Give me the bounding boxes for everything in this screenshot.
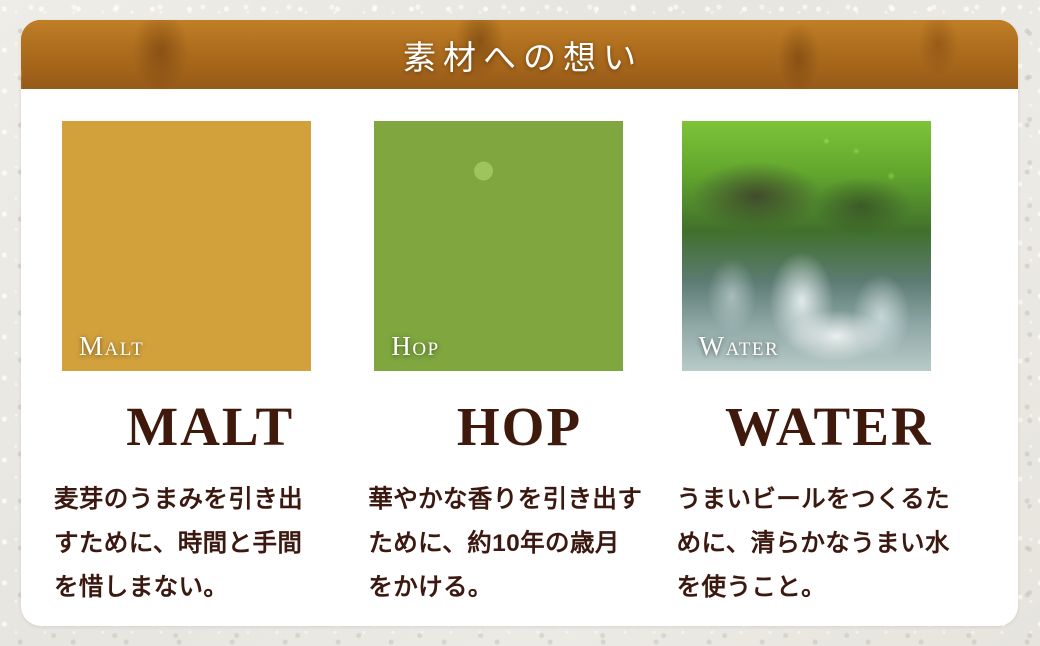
water-photo-caption: Water [699,331,779,362]
water-heading: WATER [681,399,977,455]
hop-description: 華やかな香りを引き出す ために、約10年の歳月 をかける。 [368,478,667,610]
hop-photo: Hop [374,121,623,371]
ingredient-columns: Malt MALT 麦芽のうまみを引き出 すために、時間と手間 を惜しまない。 … [21,89,1018,610]
ingredients-card: 素材への想い Malt MALT 麦芽のうまみを引き出 すために、時間と手間 を… [21,20,1018,626]
malt-photo-caption: Malt [79,331,144,362]
water-photo: Water [682,121,931,371]
malt-photo: Malt [62,121,311,371]
water-description: うまいビールをつくるた めに、清らかなうまい水 を使うこと。 [677,478,977,610]
page-title: 素材への想い [21,20,1018,89]
hop-photo-caption: Hop [391,331,439,362]
ingredient-column-hop: Hop HOP 華やかな香りを引き出す ために、約10年の歳月 をかける。 [371,121,667,610]
hop-heading: HOP [371,399,667,455]
malt-heading: MALT [62,399,358,455]
section-banner: 素材への想い [21,20,1018,89]
ingredient-column-malt: Malt MALT 麦芽のうまみを引き出 すために、時間と手間 を惜しまない。 [62,121,358,610]
ingredient-column-water: Water WATER うまいビールをつくるた めに、清らかなうまい水 を使うこ… [681,121,977,610]
malt-description: 麦芽のうまみを引き出 すために、時間と手間 を惜しまない。 [54,478,358,610]
